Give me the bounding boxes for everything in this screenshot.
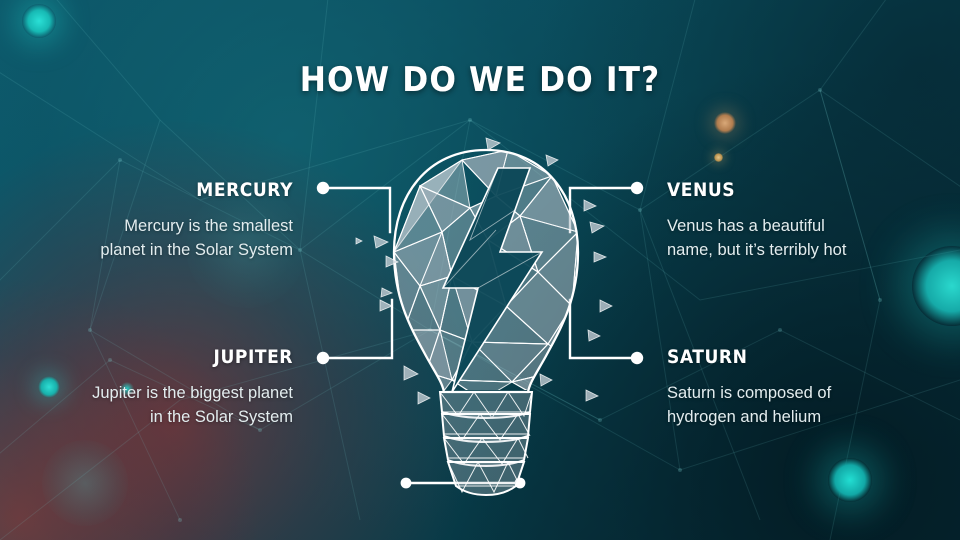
lightbulb-icon bbox=[356, 138, 612, 495]
connector-venus-dot bbox=[631, 182, 643, 194]
connector-base-dot-left bbox=[401, 478, 412, 489]
center-graphic bbox=[0, 0, 960, 540]
connector-mercury-line bbox=[323, 188, 390, 232]
connector-saturn-dot bbox=[631, 352, 643, 364]
connector-mercury-dot bbox=[317, 182, 329, 194]
connector-jupiter-dot bbox=[317, 352, 329, 364]
slide-root: HOW DO WE DO IT? MERCURY Mercury is the … bbox=[0, 0, 960, 540]
connector-venus-line bbox=[570, 188, 637, 232]
bulb-screw-base bbox=[440, 392, 532, 495]
